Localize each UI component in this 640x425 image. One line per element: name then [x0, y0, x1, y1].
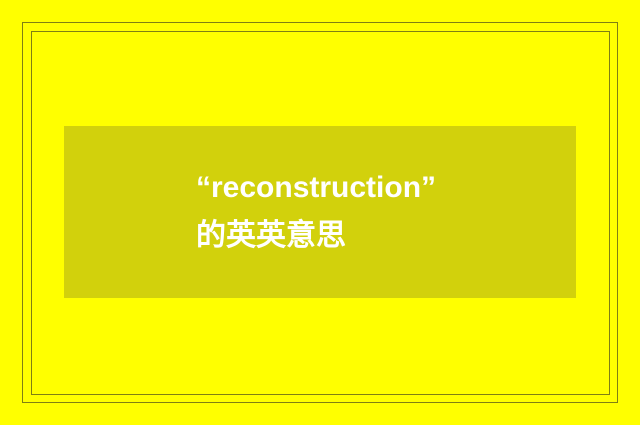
title-card: “reconstruction” 的英英意思	[64, 126, 576, 298]
poster-canvas: “reconstruction” 的英英意思	[0, 0, 640, 425]
page-title: “reconstruction” 的英英意思	[196, 164, 444, 260]
